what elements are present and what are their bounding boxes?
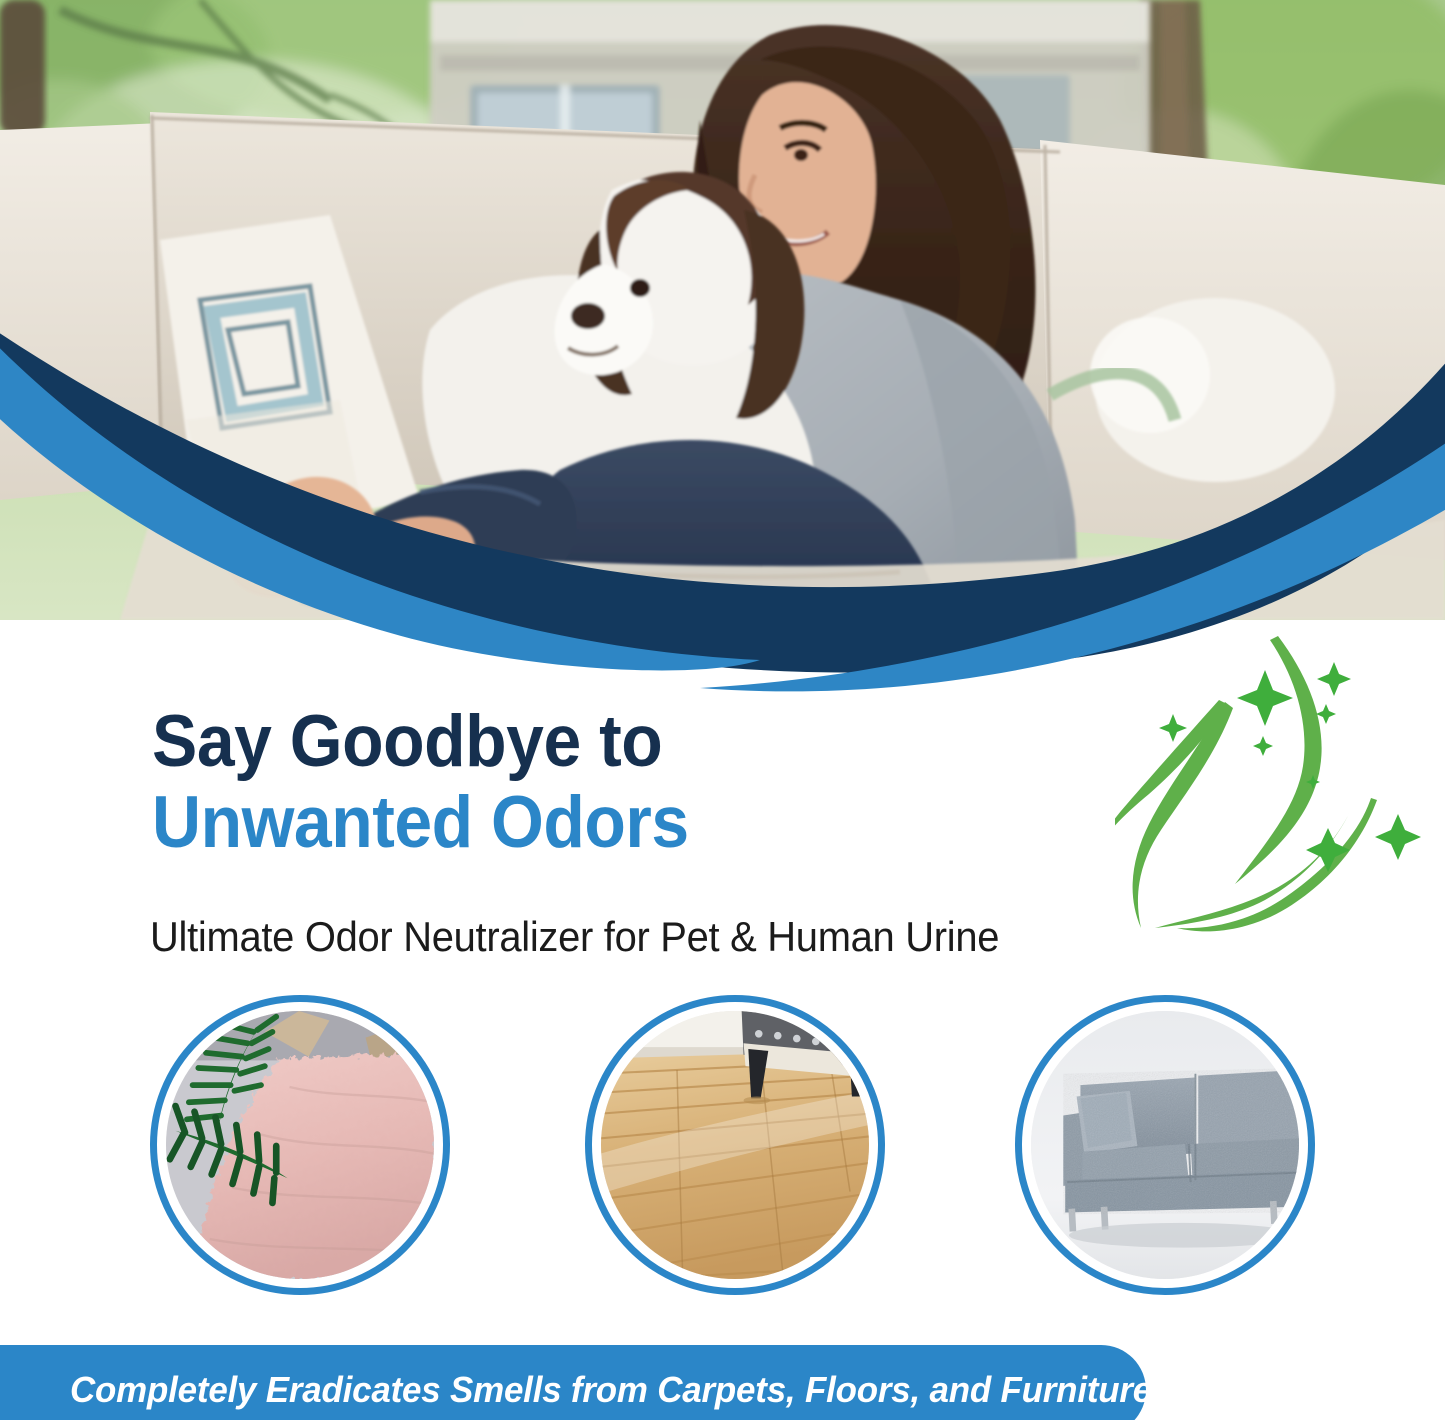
sofa-illustration [1031,1011,1299,1279]
headline-line-2: Unwanted Odors [152,787,1045,859]
feature-circle-carpet [150,995,450,1295]
sparkle-group [1159,662,1421,872]
feature-circle-hardwood-floor [585,995,885,1295]
sparkle-icon [1159,714,1187,742]
feature-image-carpet [166,1011,434,1279]
carpet-illustration [166,1011,434,1279]
bottom-claim-text: Completely Eradicates Smells from Carpet… [70,1369,1163,1411]
swoosh-stroke-bottom-2 [1155,810,1351,928]
swoosh-stroke-left-lower [1133,702,1233,928]
sparkle-icon [1253,736,1273,756]
feature-circle-sofa [1015,995,1315,1295]
sparkle-icon [1306,828,1350,872]
bottom-claim-banner: Completely Eradicates Smells from Carpet… [0,1345,1146,1420]
swoosh-stroke-bottom [1177,798,1377,931]
green-odor-sparkle-swoosh [1115,628,1445,938]
swoosh-svg [1115,628,1445,938]
swoosh-stroke-left [1115,700,1227,846]
feature-circles-row [0,995,1445,1305]
page-title: Say Goodbye to Unwanted Odors [152,706,1112,860]
hardwood-illustration [601,1011,869,1279]
sparkle-icon [1306,775,1320,789]
headline-line-1: Say Goodbye to [152,706,1045,778]
sparkle-icon [1317,662,1351,696]
hero-photo [0,0,1445,620]
product-marketing-poster: Say Goodbye to Unwanted Odors Ultimate O… [0,0,1445,1420]
sparkle-icon [1237,670,1293,726]
feature-image-sofa [1031,1011,1299,1279]
hero-photo-illustration [0,0,1445,620]
swoosh-stroke-right [1235,636,1322,884]
subheadline: Ultimate Odor Neutralizer for Pet & Huma… [150,913,999,961]
sparkle-icon [1316,704,1336,724]
feature-image-hardwood-floor [601,1011,869,1279]
sparkle-icon [1375,814,1421,860]
